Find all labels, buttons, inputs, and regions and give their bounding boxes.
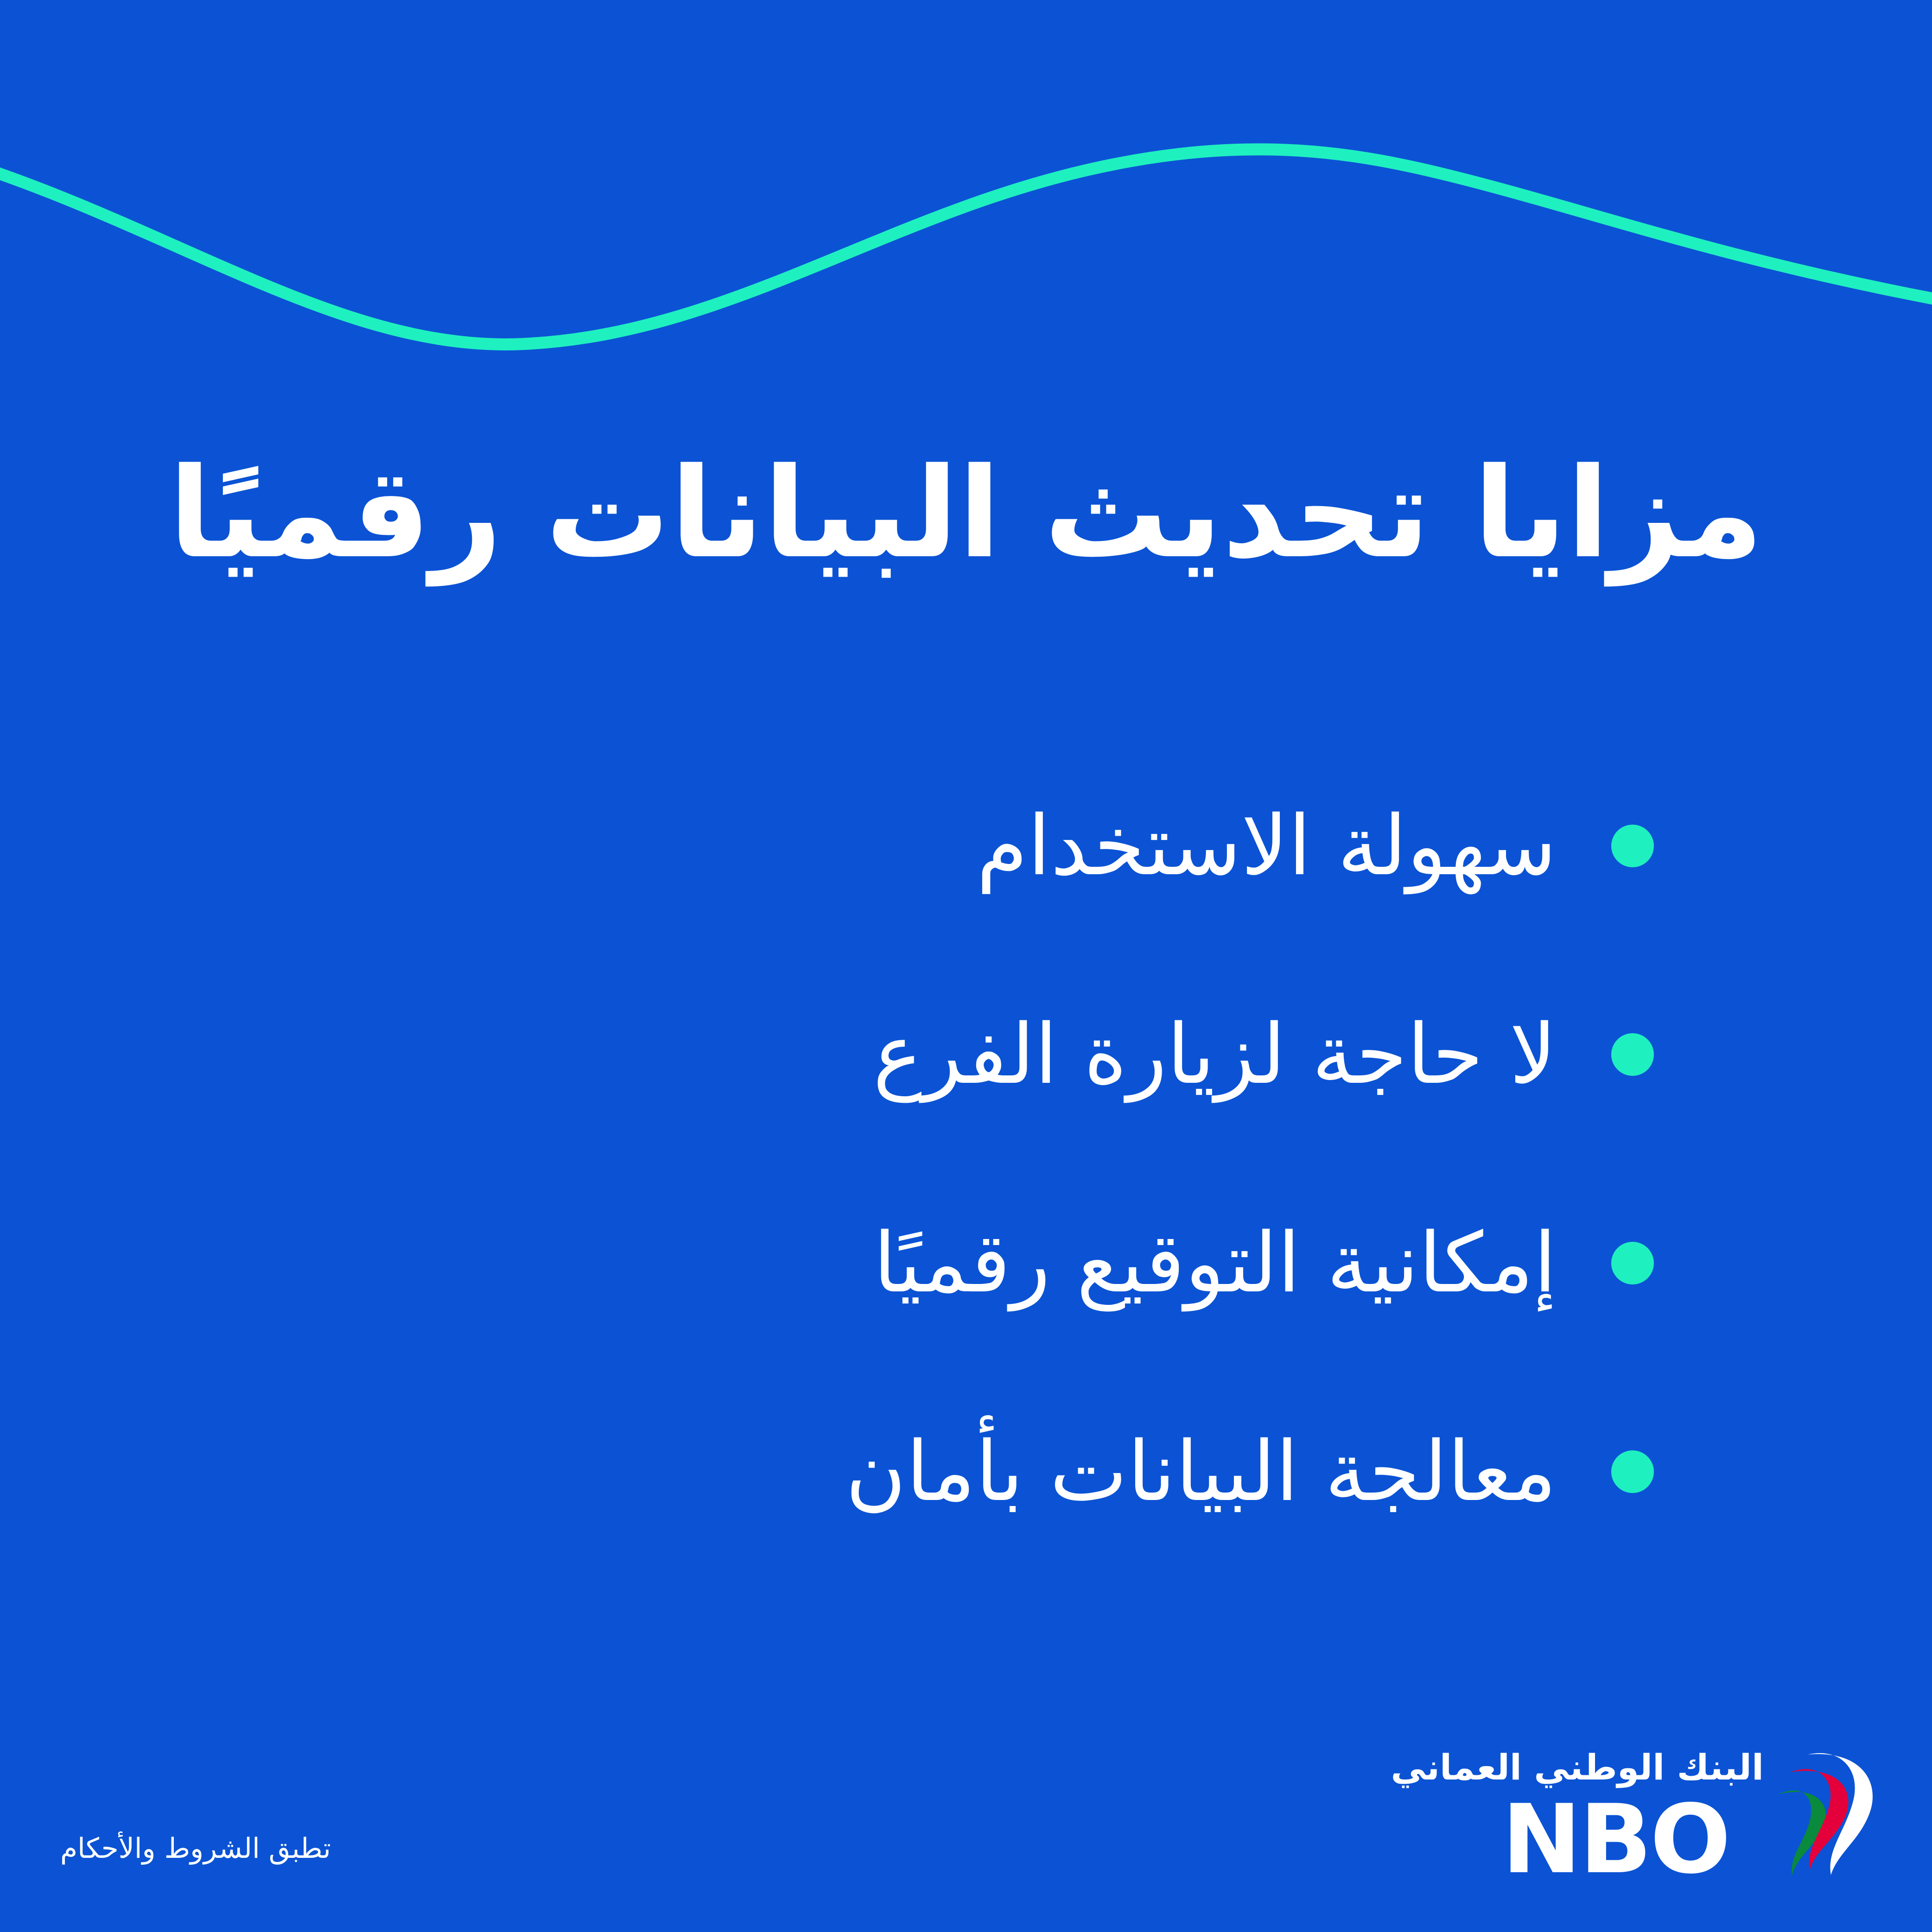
terms-disclaimer: تطبق الشروط والأحكام [60,1832,331,1865]
logo-wordmark: البنك الوطني العماني NBO [1467,1750,1764,1888]
logo-arabic-name: البنك الوطني العماني [1467,1750,1764,1785]
nbo-logo: البنك الوطني العماني NBO [1458,1750,1877,1907]
bullet-dot-icon [1611,825,1654,867]
logo-latin-name: NBO [1467,1792,1764,1888]
benefit-label: معالجة البيانات بأمان [147,1424,1557,1519]
bullet-dot-icon [1611,1450,1654,1493]
list-item: معالجة البيانات بأمان [147,1367,1654,1576]
list-item: سهولة الاستخدام [147,742,1654,950]
wave-path [0,149,1932,344]
list-item: إمكانية التوقيع رقميًا [147,1159,1654,1367]
benefit-label: سهولة الاستخدام [147,799,1557,894]
bullet-dot-icon [1611,1242,1654,1284]
flame-mark-icon [1761,1752,1877,1891]
benefits-list: سهولة الاستخدام لا حاجة لزيارة الفرع إمك… [147,742,1654,1576]
promo-canvas: مزايا تحديث البيانات رقميًا سهولة الاستخ… [0,0,1932,1932]
page-title: مزايا تحديث البيانات رقميًا [0,440,1932,587]
bullet-dot-icon [1611,1033,1654,1076]
benefit-label: لا حاجة لزيارة الفرع [147,1007,1557,1102]
benefit-label: إمكانية التوقيع رقميًا [147,1216,1557,1311]
list-item: لا حاجة لزيارة الفرع [147,950,1654,1159]
